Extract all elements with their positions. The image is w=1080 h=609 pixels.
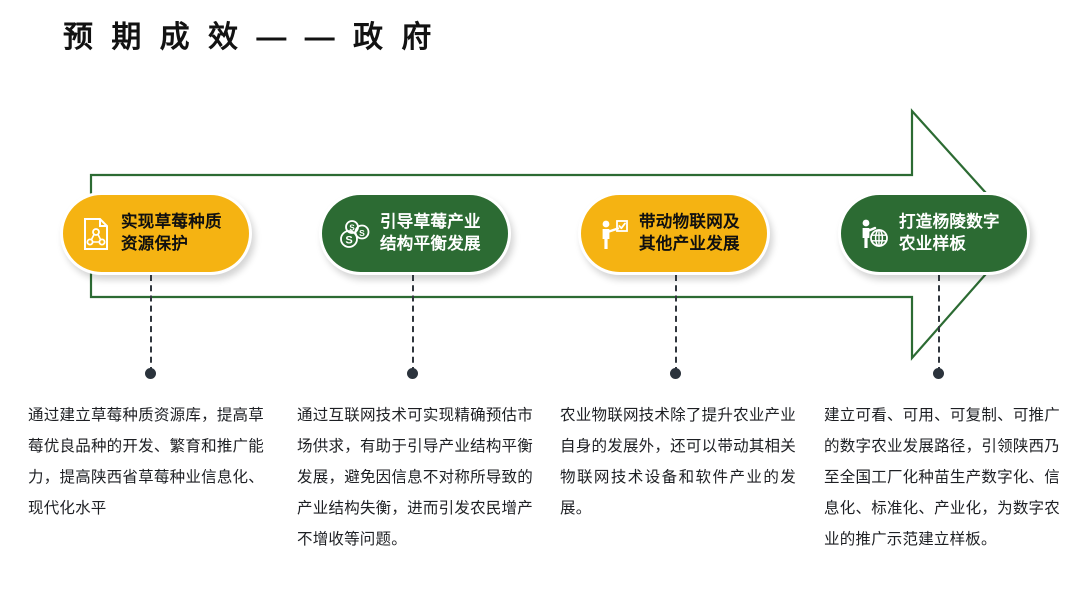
step-pill-3[interactable]: 带动物联网及 其他产业发展 — [578, 192, 770, 275]
step-pill-2[interactable]: S S S 引导草莓产业 结构平衡发展 — [319, 192, 511, 275]
connector-line-1 — [150, 275, 152, 373]
step-description-2: 通过互联网技术可实现精确预估市场供求，有助于引导产业结构平衡发展，避免因信息不对… — [297, 400, 533, 555]
step-pill-1[interactable]: 实现草莓种质 资源保护 — [60, 192, 252, 275]
connector-dot-4 — [933, 368, 944, 379]
step-pill-label-2: 引导草莓产业 结构平衡发展 — [380, 212, 481, 256]
step-pill-label-4: 打造杨陵数字 农业样板 — [899, 212, 1000, 256]
person-globe-icon — [857, 215, 891, 253]
svg-text:S: S — [345, 234, 352, 246]
connector-dot-2 — [407, 368, 418, 379]
coins-money-icon: S S S — [338, 215, 372, 253]
svg-text:S: S — [359, 227, 365, 237]
person-checklist-icon — [597, 215, 631, 253]
connector-dot-3 — [670, 368, 681, 379]
step-pill-label-3: 带动物联网及 其他产业发展 — [639, 212, 740, 256]
step-pill-label-1: 实现草莓种质 资源保护 — [121, 212, 222, 256]
connector-dot-1 — [145, 368, 156, 379]
step-description-4: 建立可看、可用、可复制、可推广的数字农业发展路径，引领陕西乃至全国工厂化种苗生产… — [824, 400, 1060, 555]
connector-line-4 — [938, 275, 940, 373]
connector-line-3 — [675, 275, 677, 373]
page-title: 预 期 成 效 — — 政 府 — [63, 18, 436, 57]
step-pill-4[interactable]: 打造杨陵数字 农业样板 — [838, 192, 1030, 275]
step-description-3: 农业物联网技术除了提升农业产业自身的发展外，还可以带动其相关物联网技术设备和软件… — [560, 400, 796, 524]
connector-line-2 — [412, 275, 414, 373]
step-description-1: 通过建立草莓种质资源库，提高草莓优良品种的开发、繁育和推广能力，提高陕西省草莓种… — [28, 400, 264, 524]
document-network-icon — [79, 215, 113, 253]
